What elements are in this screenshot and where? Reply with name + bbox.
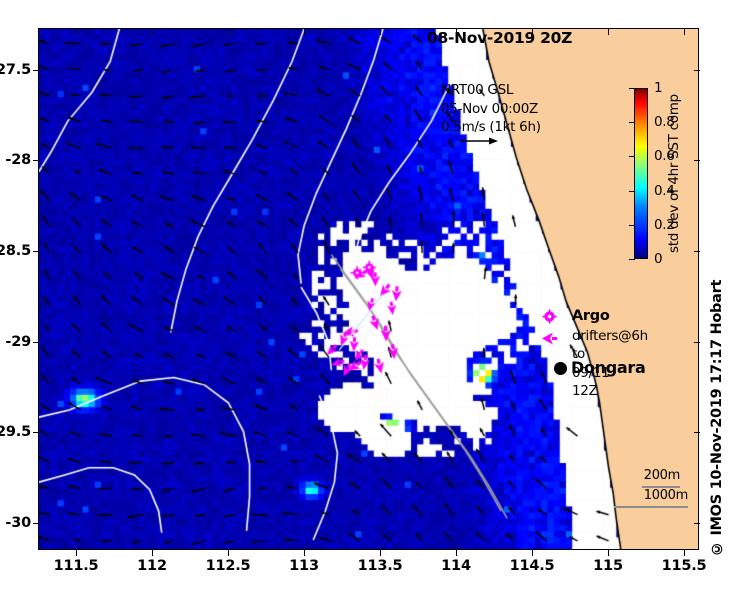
source-info-block: NRT00 GSL 05-Nov 00:00Z 0.5m/s (1kt 6h) [441,81,541,137]
x-axis-tick [456,550,457,556]
x-axis-tick [228,550,229,556]
copyright-notice: © IMOS 10-Nov-2019 17:17 Hobart [706,286,728,556]
y-axis-tick [33,342,39,343]
depth-scale-bar: 200m 1000m [600,468,690,518]
colorbar: 00.20.40.60.81 [634,88,648,259]
legend-drifter-label: drifters@6h [572,327,648,346]
y-axis-tick-right [694,160,700,161]
x-axis-tick-top [380,29,381,35]
x-axis-tick-label: 114 [441,558,471,574]
colorbar-tick-label: 0 [654,251,662,267]
scalebar-1000m-line [614,506,688,508]
y-axis-tick [33,160,39,161]
y-axis-tick [33,432,39,433]
scalebar-1000m-label: 1000m [644,488,688,503]
x-axis-tick-label: 114.5 [510,558,555,574]
y-axis-tick [33,251,39,252]
vector-scale-arrow-icon [460,136,498,146]
x-axis-tick-label: 111.5 [54,558,99,574]
x-axis-tick-top [228,29,229,35]
x-axis-tick-top [304,29,305,35]
colorbar-tick [629,156,635,157]
x-axis-tick [684,550,685,556]
colorbar-tick [629,88,635,89]
y-axis-tick-right [694,251,700,252]
colorbar-tick-label: 1 [654,80,662,96]
colorbar-tick [629,122,635,123]
x-axis-tick [608,550,609,556]
x-axis-tick [304,550,305,556]
source-product-line: NRT00 GSL [441,81,541,100]
city-label-dongara: Dongara [571,358,646,377]
vector-scale-line: 0.5m/s (1kt 6h) [441,118,541,137]
y-axis-tick-label: -30 [5,515,31,531]
colorbar-gradient [634,88,648,259]
x-axis-tick-top [532,29,533,35]
x-axis-tick-top [76,29,77,35]
colorbar-tick [629,259,635,260]
x-axis-tick-top [684,29,685,35]
x-axis-tick-top [152,29,153,35]
x-axis-tick-top [456,29,457,35]
x-axis-tick [380,550,381,556]
x-axis-tick-label: 115 [593,558,623,574]
legend-argo-label: Argo [572,307,610,326]
y-axis-tick-label: -28 [5,152,31,168]
date-stamp: 08-Nov-2019 20Z [427,29,572,47]
x-axis-tick-label: 112.5 [206,558,251,574]
city-dot-marker-icon [554,362,567,375]
x-axis-tick [76,550,77,556]
colorbar-title: std dev of 4hr SST comp [664,88,684,259]
x-axis-tick-label: 115.5 [662,558,707,574]
source-date-line: 05-Nov 00:00Z [441,100,541,119]
y-axis-tick-right [694,432,700,433]
x-axis-tick [152,550,153,556]
argo-float-marker-icon [542,309,557,324]
y-axis-tick-right [694,523,700,524]
y-axis-tick-right [694,342,700,343]
figure-canvas: 08-Nov-2019 20Z NRT00 GSL 05-Nov 00:00Z … [0,0,739,592]
colorbar-tick [629,225,635,226]
colorbar-tick [629,191,635,192]
y-axis-tick-label: -29 [5,334,31,350]
y-axis-tick-label: -28.5 [0,243,31,259]
x-axis-tick-label: 112 [137,558,167,574]
x-axis-tick-label: 113 [289,558,319,574]
y-axis-tick [33,523,39,524]
y-axis-tick-right [694,70,700,71]
y-axis-tick [33,70,39,71]
x-axis-tick-label: 113.5 [358,558,403,574]
drifter-arrow-marker-icon [542,332,557,345]
x-axis-tick-top [608,29,609,35]
x-axis-tick [532,550,533,556]
y-axis-tick-label: -29.5 [0,424,31,440]
scalebar-200m-label: 200m [644,468,680,483]
y-axis-tick-label: -27.5 [0,62,31,78]
